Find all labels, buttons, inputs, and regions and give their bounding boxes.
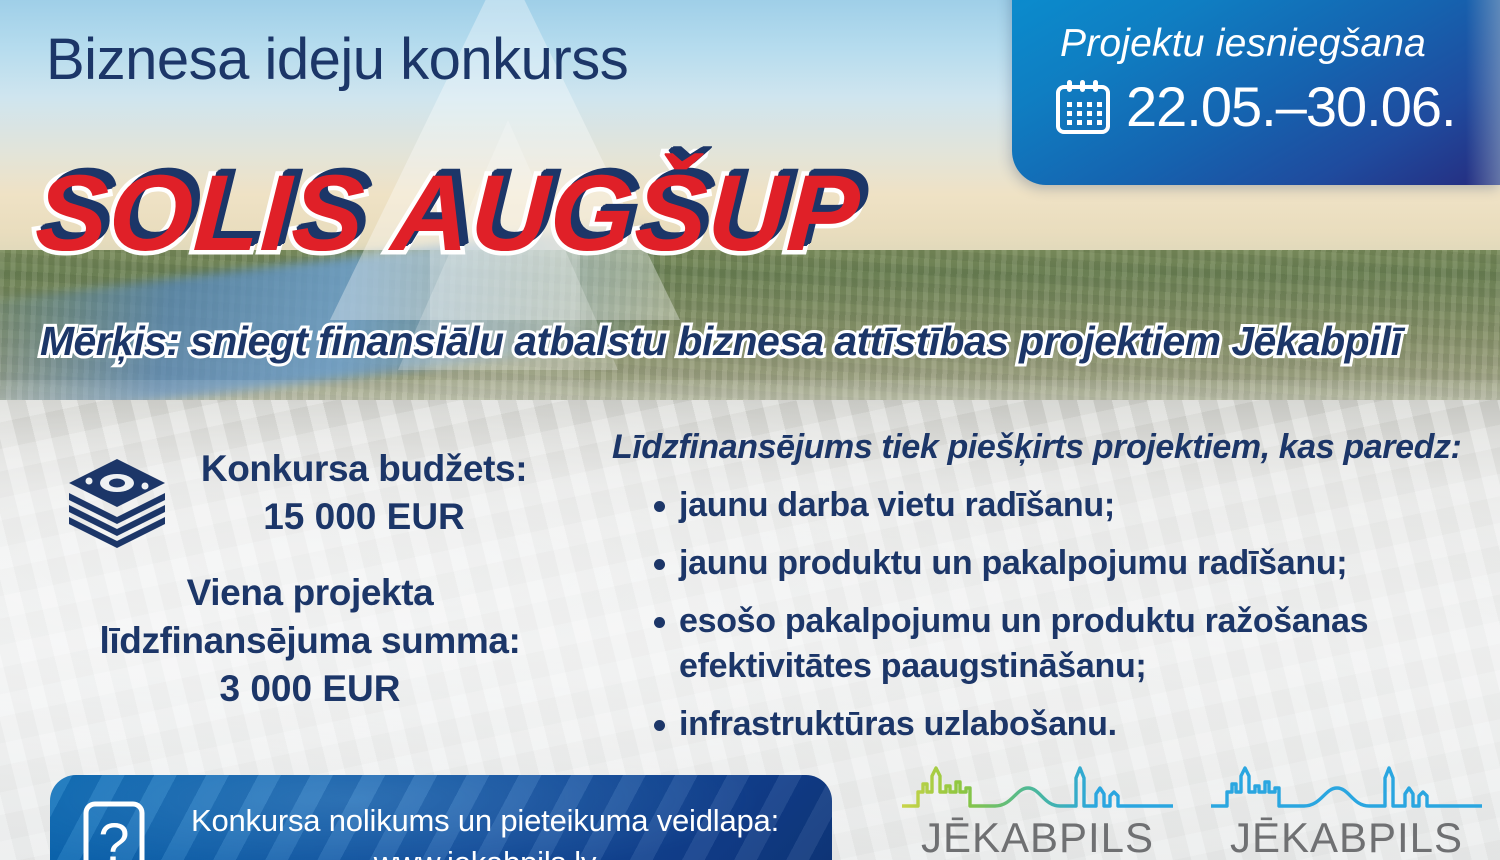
criteria-item-text: esošo pakalpojumu un produktu ražošanas …: [679, 599, 1492, 687]
page-title: SOLIS AUGŠUP: [33, 150, 864, 275]
per-project-label-line1: Viena projekta: [60, 569, 560, 617]
question-mark-icon: ?: [82, 800, 146, 860]
bullet-dot-icon: [654, 720, 665, 731]
bullet-dot-icon: [654, 501, 665, 512]
list-item: infrastruktūras uzlabošanu.: [654, 702, 1492, 746]
criteria-block: Līdzfinansējums tiek piešķirts projektie…: [612, 428, 1492, 760]
submission-date-range: 22.05.–30.06.: [1126, 74, 1456, 139]
budget-amount: 15 000 EUR: [168, 493, 560, 541]
svg-text:?: ?: [98, 811, 129, 860]
logo-name: JĒKABPILS: [900, 814, 1175, 860]
budget-block: Konkursa budžets: 15 000 EUR Viena proje…: [60, 445, 560, 713]
page-subtitle: Mērķis: sniegt finansiālu atbalstu bizne…: [40, 318, 1460, 365]
per-project-amount: 3 000 EUR: [60, 665, 560, 713]
info-bar-label: Konkursa nolikums un pieteikuma veidlapa…: [160, 803, 810, 839]
criteria-item-text: infrastruktūras uzlabošanu.: [679, 702, 1117, 746]
submission-period-badge: Projektu iesniegšana 22.05.–30.06.: [1012, 0, 1500, 185]
money-stack-icon: [65, 453, 170, 558]
bullet-dot-icon: [654, 617, 665, 628]
logo-name: JĒKABPILS: [1209, 814, 1484, 860]
calendar-icon: [1054, 78, 1112, 136]
info-bar-url[interactable]: www.jekabpils.lv: [160, 845, 810, 860]
logo-jekabpils-novada-pasvaldiba: JĒKABPILS NOVADA PAŠVALDĪBA: [900, 762, 1175, 860]
list-item: jaunu produktu un pakalpojumu radīšanu;: [654, 541, 1492, 585]
submission-period-label: Projektu iesniegšana: [1060, 22, 1426, 66]
skyline-icon-blue: [1209, 762, 1484, 812]
info-text-group: Konkursa nolikums un pieteikuma veidlapa…: [160, 803, 810, 860]
skyline-icon-gradient: [900, 762, 1175, 812]
poster-canvas: Biznesa ideju konkurss SOLIS AUGŠUP Mērķ…: [0, 0, 1500, 860]
subtitle-container: Mērķis: sniegt finansiālu atbalstu bizne…: [40, 318, 1460, 374]
list-item: jaunu darba vietu radīšanu;: [654, 483, 1492, 527]
logo-jekabpils-novads: JĒKABPILS NOVADS: [1209, 762, 1484, 860]
page-kicker: Biznesa ideju konkurss: [46, 26, 628, 93]
criteria-item-text: jaunu produktu un pakalpojumu radīšanu;: [679, 541, 1347, 585]
bullet-dot-icon: [654, 559, 665, 570]
submission-period-row: 22.05.–30.06.: [1054, 74, 1456, 139]
per-project-label-line2: līdzfinansējuma summa:: [60, 617, 560, 665]
budget-label: Konkursa budžets:: [168, 445, 560, 493]
criteria-heading: Līdzfinansējums tiek piešķirts projektie…: [612, 428, 1492, 467]
criteria-item-text: jaunu darba vietu radīšanu;: [679, 483, 1115, 527]
logo-group: JĒKABPILS NOVADA PAŠVALDĪBA JĒKABPILS NO…: [900, 762, 1484, 860]
info-bar: ? Konkursa nolikums un pieteikuma veidla…: [50, 775, 832, 860]
list-item: esošo pakalpojumu un produktu ražošanas …: [654, 599, 1492, 687]
